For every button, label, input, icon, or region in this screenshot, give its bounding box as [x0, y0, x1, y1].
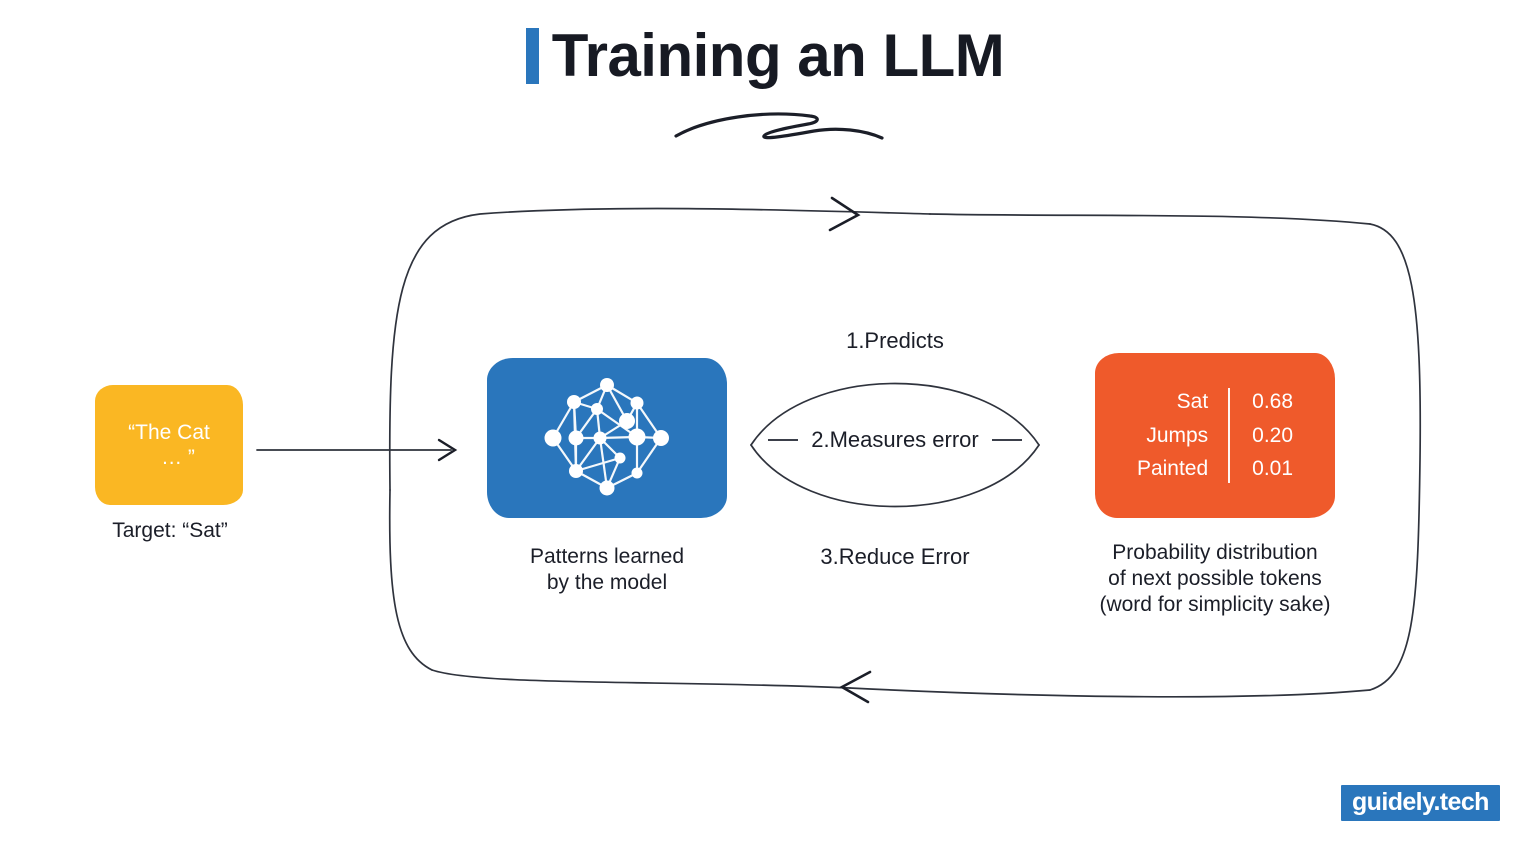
cycle-step-2-label: 2.Measures error — [811, 427, 979, 453]
brand-logo-text: guidely.tech — [1352, 790, 1489, 815]
table-divider — [1228, 388, 1230, 483]
cycle-step-3-label: 3.Reduce Error — [790, 544, 1000, 570]
dash-left-icon — [768, 439, 798, 441]
title-row: Training an LLM — [526, 26, 1005, 86]
dash-right-icon — [992, 439, 1022, 441]
probability-value-column: 0.68 0.20 0.01 — [1230, 385, 1293, 486]
page-title: Training an LLM — [0, 26, 1530, 89]
output-probability-card: Sat Jumps Painted 0.68 0.20 0.01 — [1095, 353, 1335, 518]
cycle-step-2: 2.Measures error — [745, 427, 1045, 453]
title-text: Training an LLM — [552, 26, 1005, 86]
probability-token-column: Sat Jumps Painted — [1137, 385, 1228, 486]
output-caption-line1: Probability distribution — [1045, 540, 1385, 566]
input-prompt-line1: “The Cat — [128, 421, 210, 444]
table-row: Jumps — [1137, 419, 1208, 453]
model-caption-line2: by the model — [467, 570, 747, 596]
model-caption: Patterns learned by the model — [467, 544, 747, 595]
title-accent-bar — [526, 28, 539, 84]
input-prompt-card: “The Cat … ” — [95, 385, 243, 505]
table-row: 0.01 — [1252, 452, 1293, 486]
title-underline-swoosh-icon — [668, 102, 894, 146]
table-row: 0.20 — [1252, 419, 1293, 453]
output-caption-line3: (word for simplicity sake) — [1045, 592, 1385, 618]
table-row: Sat — [1137, 385, 1208, 419]
brand-logo: guidely.tech — [1341, 785, 1500, 821]
table-row: Painted — [1137, 452, 1208, 486]
output-caption: Probability distribution of next possibl… — [1045, 540, 1385, 618]
output-caption-line2: of next possible tokens — [1045, 566, 1385, 592]
probability-table: Sat Jumps Painted 0.68 0.20 0.01 — [1137, 385, 1293, 486]
input-prompt-line2: … ” — [143, 446, 195, 469]
table-row: 0.68 — [1252, 385, 1293, 419]
input-to-model-arrow — [255, 430, 470, 470]
neural-network-icon — [537, 375, 677, 501]
model-card — [487, 358, 727, 518]
model-caption-line1: Patterns learned — [467, 544, 747, 570]
target-label: Target: “Sat” — [40, 519, 300, 543]
cycle-step-1-label: 1.Predicts — [790, 328, 1000, 354]
